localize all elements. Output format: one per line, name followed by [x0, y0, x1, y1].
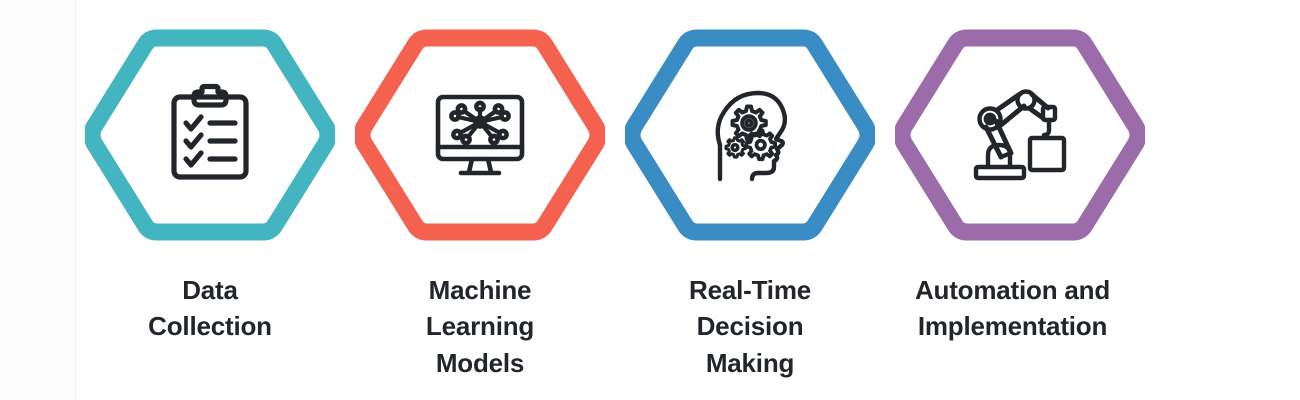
- hexagon-badge-3[interactable]: [625, 24, 875, 246]
- monitor-neural-network-icon: [428, 83, 532, 187]
- step-4-automation-and-implementation[interactable]: Automation and Implementation: [885, 0, 1155, 400]
- step-3-label: Real-Time Decision Making: [615, 272, 885, 381]
- robotic-arm-icon: [968, 83, 1072, 187]
- step-1-label: Data Collection: [75, 272, 345, 345]
- hexagon-badge-4[interactable]: [895, 24, 1145, 246]
- step-4-label: Automation and Implementation: [863, 272, 1163, 345]
- steps-row: Data Collection: [75, 0, 1300, 400]
- left-margin-band: [0, 0, 76, 400]
- hexagon-badge-2[interactable]: [355, 24, 605, 246]
- hexagon-badge-1[interactable]: [85, 24, 335, 246]
- step-2-label: Machine Learning Models: [345, 272, 615, 381]
- step-1-data-collection[interactable]: Data Collection: [75, 0, 345, 400]
- step-3-real-time-decision-making[interactable]: Real-Time Decision Making: [615, 0, 885, 400]
- step-2-machine-learning-models[interactable]: Machine Learning Models: [345, 0, 615, 400]
- head-gears-icon: [698, 83, 802, 187]
- clipboard-checklist-icon: [158, 83, 262, 187]
- infographic-canvas: Data Collection: [0, 0, 1300, 400]
